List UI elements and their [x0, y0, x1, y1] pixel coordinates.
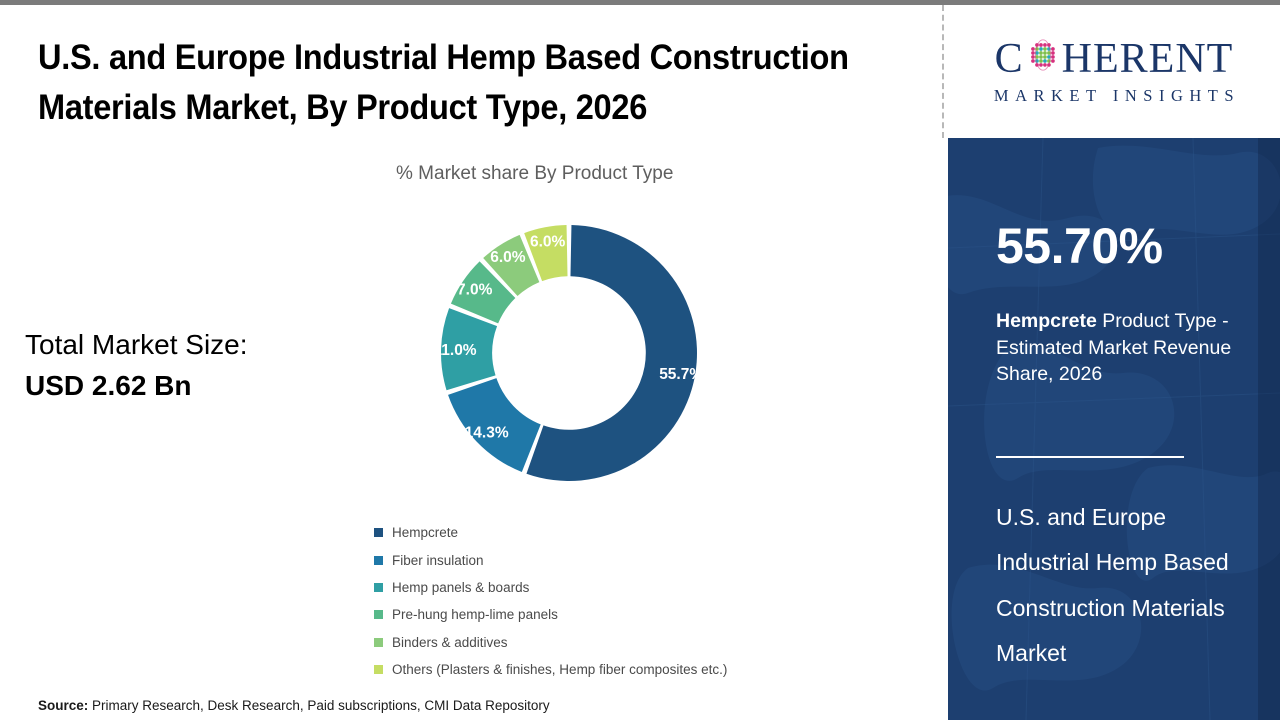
- donut-slice-label: 7.0%: [457, 281, 493, 298]
- legend-swatch-icon: [374, 583, 383, 592]
- sidebar-footer-title: U.S. and Europe Industrial Hemp Based Co…: [996, 495, 1264, 676]
- chart-legend: HempcreteFiber insulationHemp panels & b…: [374, 519, 727, 683]
- page-title: U.S. and Europe Industrial Hemp Based Co…: [38, 33, 856, 134]
- legend-swatch-icon: [374, 610, 383, 619]
- logo-letter-c: C: [995, 38, 1024, 80]
- source-text: Primary Research, Desk Research, Paid su…: [88, 698, 549, 713]
- total-market-size-value: USD 2.62 Bn: [25, 366, 355, 407]
- donut-slice-label: 6.0%: [490, 249, 526, 266]
- highlight-description: Hempcrete Product Type - Estimated Marke…: [996, 308, 1262, 388]
- legend-item[interactable]: Binders & additives: [374, 629, 727, 656]
- total-market-size-caption: Total Market Size:: [25, 329, 248, 360]
- donut-slice-label: 11.0%: [434, 342, 477, 359]
- legend-item[interactable]: Pre-hung hemp-lime panels: [374, 601, 727, 628]
- legend-swatch-icon: [374, 665, 383, 674]
- main-panel: U.S. and Europe Industrial Hemp Based Co…: [0, 5, 943, 720]
- source-label: Source:: [38, 698, 88, 713]
- donut-slice-label: 14.3%: [465, 424, 509, 441]
- legend-item[interactable]: Fiber insulation: [374, 546, 727, 573]
- donut-slice-label: 6.0%: [530, 234, 566, 251]
- legend-item-label: Binders & additives: [392, 635, 508, 650]
- highlight-description-bold: Hempcrete: [996, 310, 1097, 332]
- logo-tagline: MARKET INSIGHTS: [988, 86, 1240, 106]
- chart-subtitle: % Market share By Product Type: [396, 163, 673, 185]
- dotted-globe-icon: [1026, 38, 1060, 80]
- legend-item[interactable]: Hemp panels & boards: [374, 574, 727, 601]
- brand-logo: C HERENT MARKET INSIGHTS: [948, 5, 1280, 138]
- legend-item-label: Hemp panels & boards: [392, 580, 529, 595]
- source-note: Source: Primary Research, Desk Research,…: [38, 698, 550, 713]
- legend-item-label: Hempcrete: [392, 525, 458, 540]
- legend-item-label: Fiber insulation: [392, 553, 484, 568]
- legend-item[interactable]: Others (Plasters & finishes, Hemp fiber …: [374, 656, 727, 683]
- legend-item[interactable]: Hempcrete: [374, 519, 727, 546]
- legend-swatch-icon: [374, 638, 383, 647]
- legend-swatch-icon: [374, 556, 383, 565]
- donut-chart-svg: 55.7%14.3%11.0%7.0%6.0%6.0%: [428, 223, 710, 483]
- logo-wordmark: C HERENT: [995, 38, 1234, 80]
- sidebar-panel: 55.70% Hempcrete Product Type - Estimate…: [948, 138, 1280, 720]
- donut-chart: 55.7%14.3%11.0%7.0%6.0%6.0%: [428, 223, 710, 483]
- total-market-size-block: Total Market Size: USD 2.62 Bn: [25, 325, 355, 406]
- donut-slice-label: 55.7%: [659, 366, 703, 383]
- legend-item-label: Pre-hung hemp-lime panels: [392, 607, 558, 622]
- infographic-page: U.S. and Europe Industrial Hemp Based Co…: [0, 0, 1280, 720]
- legend-swatch-icon: [374, 528, 383, 537]
- highlight-percent: 55.70%: [996, 221, 1163, 271]
- legend-item-label: Others (Plasters & finishes, Hemp fiber …: [392, 662, 727, 677]
- logo-wordmark-rest: HERENT: [1062, 38, 1234, 80]
- sidebar-divider: [996, 456, 1184, 458]
